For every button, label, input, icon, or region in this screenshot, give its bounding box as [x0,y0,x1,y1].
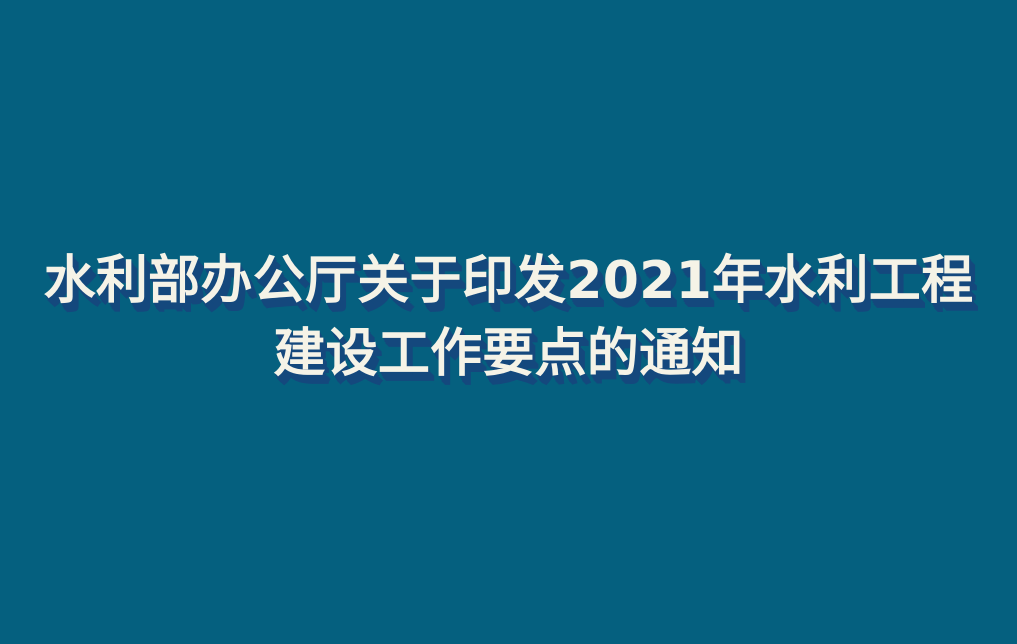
title-line-1: 水利部办公厅关于印发2021年水利工程 [0,248,1017,315]
title-block: 水利部办公厅关于印发2021年水利工程 建设工作要点的通知 [0,248,1017,387]
title-line-2: 建设工作要点的通知 [0,321,1017,388]
poster-canvas: 水利部办公厅关于印发2021年水利工程 建设工作要点的通知 [0,0,1017,644]
